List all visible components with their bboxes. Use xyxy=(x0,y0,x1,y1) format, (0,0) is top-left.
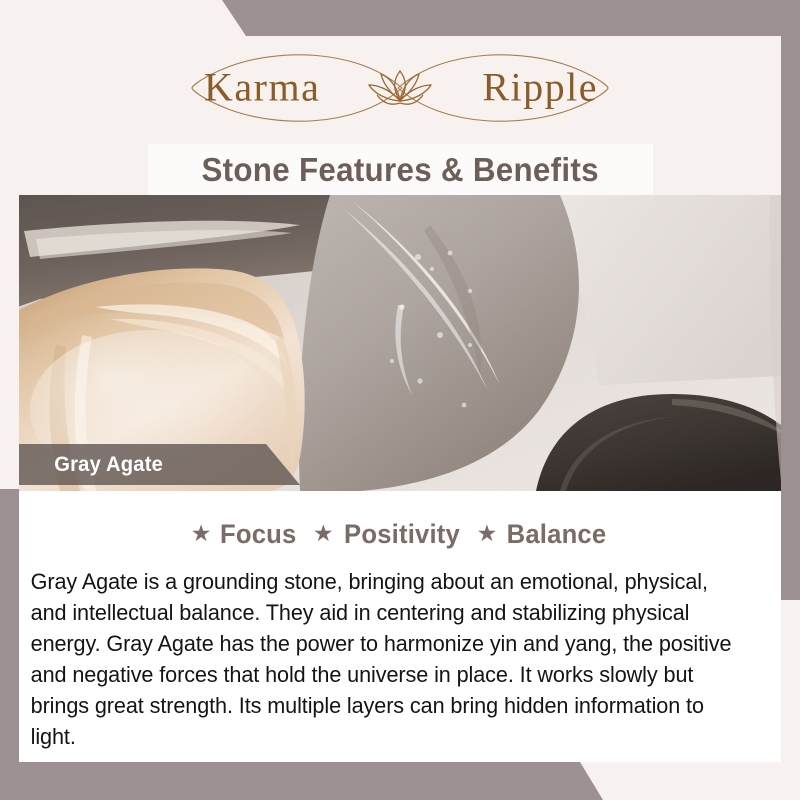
star-icon: ★ xyxy=(313,522,334,545)
stone-description: Gray Agate is a grounding stone, bringin… xyxy=(19,566,758,753)
star-icon: ★ xyxy=(191,522,212,545)
page-title: Stone Features & Benefits xyxy=(202,151,599,189)
brand-logo: Karma Ripple xyxy=(19,36,781,139)
stone-info-card: Karma Ripple Stone Features & Benefits xyxy=(0,0,800,800)
keyword-item-positivity: ★ Positivity xyxy=(313,519,463,550)
keyword-item-focus: ★ Focus xyxy=(191,519,299,550)
stone-name: Gray Agate xyxy=(54,453,163,477)
card-panel: Karma Ripple Stone Features & Benefits xyxy=(19,36,781,762)
keyword-list: ★ Focus ★ Positivity ★ Balance xyxy=(19,519,781,550)
content-area: ★ Focus ★ Positivity ★ Balance Gray Agat… xyxy=(19,491,781,762)
keyword-item-balance: ★ Balance xyxy=(477,519,610,550)
star-icon: ★ xyxy=(477,522,498,545)
keyword-label: Focus xyxy=(220,519,296,550)
brand-name-second: Ripple xyxy=(482,63,598,110)
brand-logo-inner: Karma Ripple xyxy=(180,43,620,133)
section-title-band: Stone Features & Benefits xyxy=(148,144,653,195)
lotus-flower-icon xyxy=(369,71,431,104)
brand-name-first: Karma xyxy=(204,63,320,110)
keyword-label: Positivity xyxy=(344,519,460,550)
stone-caption-band: Gray Agate xyxy=(19,444,300,485)
keyword-label: Balance xyxy=(507,519,607,550)
